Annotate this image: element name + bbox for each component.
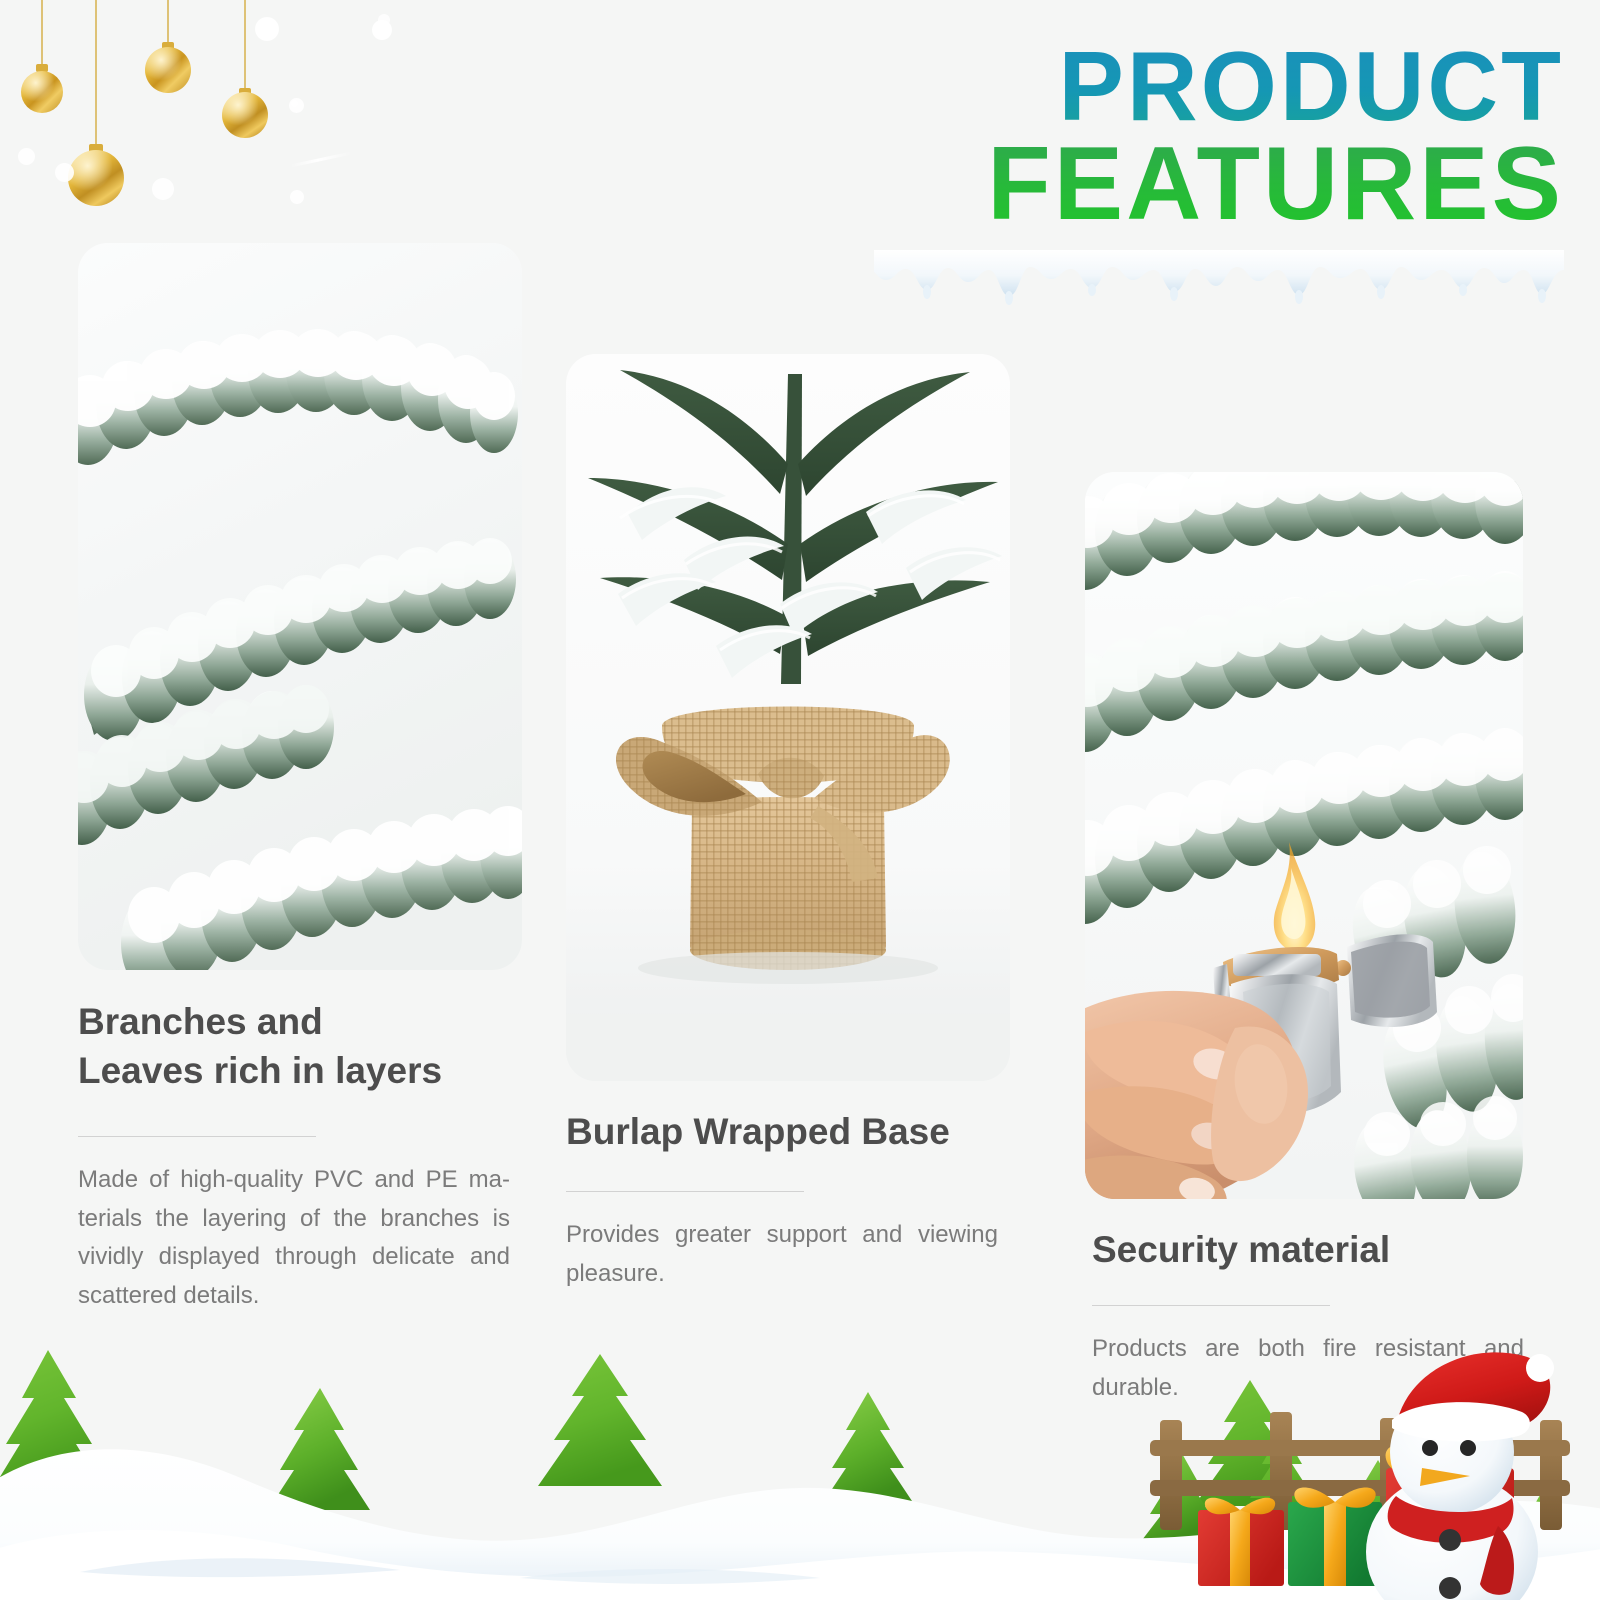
- bokeh-dot: [290, 190, 304, 204]
- snow-drifts: [0, 1449, 1600, 1600]
- snow-flocked-branches-photo: [78, 243, 522, 970]
- feature-image-branches-and-leaves: [78, 243, 522, 970]
- caption-divider: [78, 1136, 316, 1137]
- feature-image-security-material: [1085, 472, 1523, 1199]
- bokeh-dot: [255, 17, 279, 41]
- bokeh-dot: [18, 148, 35, 165]
- caption-divider: [566, 1191, 804, 1192]
- snow-drip-icon: [874, 250, 1564, 312]
- wooden-fence-icon: [1150, 1412, 1570, 1530]
- bokeh-dot: [289, 98, 304, 113]
- snow-streak: [290, 152, 351, 168]
- feature-title: Branches and Leaves rich in layers: [78, 998, 510, 1096]
- bokeh-dot: [378, 14, 390, 26]
- feature-title: Security material: [1092, 1226, 1524, 1275]
- bokeh-dot: [152, 178, 174, 200]
- feature-caption-security-material: Security material Products are both fire…: [1092, 1226, 1524, 1408]
- feature-body: Products are both fire resistant and dur…: [1092, 1330, 1524, 1408]
- infographic-canvas: PRODUCT FEATURES: [0, 0, 1600, 1600]
- feature-body: Made of high-quality PVC and PE ma-teria…: [78, 1161, 510, 1317]
- feature-image-burlap-wrapped-base: [566, 354, 1010, 1081]
- feature-body: Provides greater support and viewing ple…: [566, 1216, 998, 1294]
- caption-divider: [1092, 1305, 1330, 1306]
- feature-title-line2: Leaves rich in layers: [78, 1050, 442, 1091]
- feature-caption-branches-and-leaves: Branches and Leaves rich in layers Made …: [78, 998, 510, 1316]
- feature-title: Burlap Wrapped Base: [566, 1108, 998, 1157]
- gift-boxes-icon: [1198, 1444, 1514, 1586]
- lighter-flame-photo: [1085, 472, 1523, 1199]
- title-line-product: PRODUCT: [884, 38, 1564, 134]
- page-title: PRODUCT FEATURES: [884, 38, 1564, 236]
- right-tree-group: [1142, 1430, 1580, 1566]
- feature-title-line1: Branches and: [78, 1001, 323, 1042]
- feature-caption-burlap-wrapped-base: Burlap Wrapped Base Provides greater sup…: [566, 1108, 998, 1294]
- burlap-base-photo: [566, 354, 1010, 1081]
- bokeh-dot: [55, 163, 74, 182]
- title-line-features: FEATURES: [884, 134, 1564, 236]
